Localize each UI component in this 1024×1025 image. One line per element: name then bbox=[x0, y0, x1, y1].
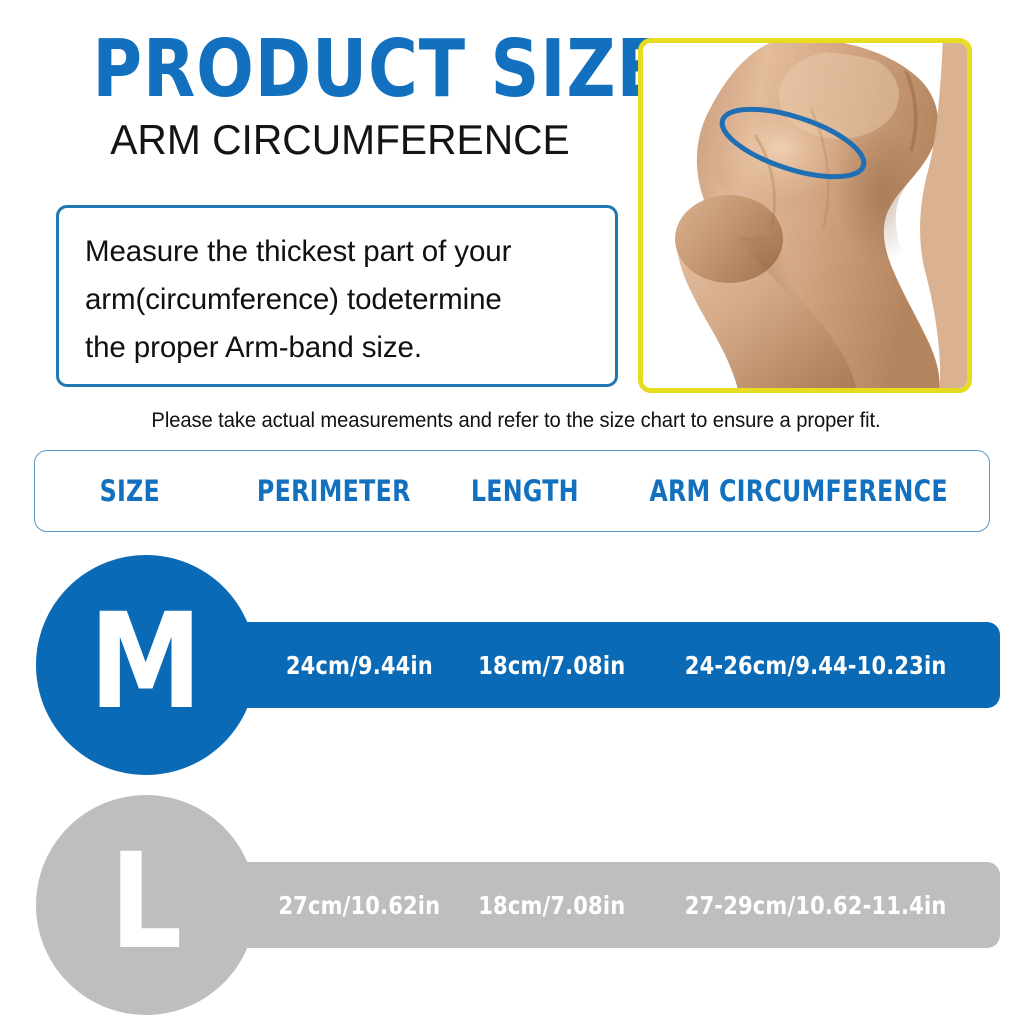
table-row: 27cm/10.62in 18cm/7.08in 27-29cm/10.62-1… bbox=[0, 785, 1024, 1025]
arm-photo-frame bbox=[638, 38, 972, 393]
page-subtitle: ARM CIRCUMFERENCE bbox=[61, 118, 620, 162]
cell-perimeter-m: 24cm/9.44in bbox=[271, 651, 448, 680]
size-badge-m: M bbox=[36, 555, 256, 775]
size-table-header: SIZE PERIMETER LENGTH ARM CIRCUMFERENCE bbox=[34, 450, 990, 532]
size-row-bar-l: 27cm/10.62in 18cm/7.08in 27-29cm/10.62-1… bbox=[150, 862, 1000, 948]
flexed-arm-illustration bbox=[643, 43, 967, 388]
intro-section: PRODUCT SIZE ARM CIRCUMFERENCE Measure t… bbox=[52, 28, 628, 396]
cell-length-m: 18cm/7.08in bbox=[478, 651, 617, 680]
cell-length-l: 18cm/7.08in bbox=[478, 891, 617, 920]
arm-photo bbox=[643, 43, 967, 388]
column-header-length: LENGTH bbox=[457, 474, 593, 508]
size-label-l: L bbox=[110, 836, 182, 974]
size-badge-l: L bbox=[36, 795, 256, 1015]
instruction-line-3: the proper Arm-band size. bbox=[85, 324, 591, 372]
instructions-box: Measure the thickest part of your arm(ci… bbox=[56, 205, 618, 387]
size-row-bar-m: 24cm/9.44in 18cm/7.08in 24-26cm/9.44-10.… bbox=[150, 622, 1000, 708]
cell-perimeter-l: 27cm/10.62in bbox=[271, 891, 448, 920]
column-header-arm-circumference: ARM CIRCUMFERENCE bbox=[642, 474, 955, 508]
cell-arm-circumference-l: 27-29cm/10.62-11.4in bbox=[660, 891, 970, 920]
instruction-line-2: arm(circumference) todetermine bbox=[85, 276, 591, 324]
product-size-chart: PRODUCT SIZE ARM CIRCUMFERENCE Measure t… bbox=[0, 0, 1024, 1024]
table-row: 24cm/9.44in 18cm/7.08in 24-26cm/9.44-10.… bbox=[0, 545, 1024, 785]
column-header-perimeter: PERIMETER bbox=[244, 474, 422, 508]
page-title: PRODUCT SIZE bbox=[92, 32, 587, 108]
column-header-size: SIZE bbox=[52, 474, 207, 508]
measurement-note: Please take actual measurements and refe… bbox=[84, 408, 949, 433]
size-label-m: M bbox=[90, 596, 203, 734]
instruction-line-1: Measure the thickest part of your bbox=[85, 228, 591, 276]
cell-arm-circumference-m: 24-26cm/9.44-10.23in bbox=[660, 651, 970, 680]
